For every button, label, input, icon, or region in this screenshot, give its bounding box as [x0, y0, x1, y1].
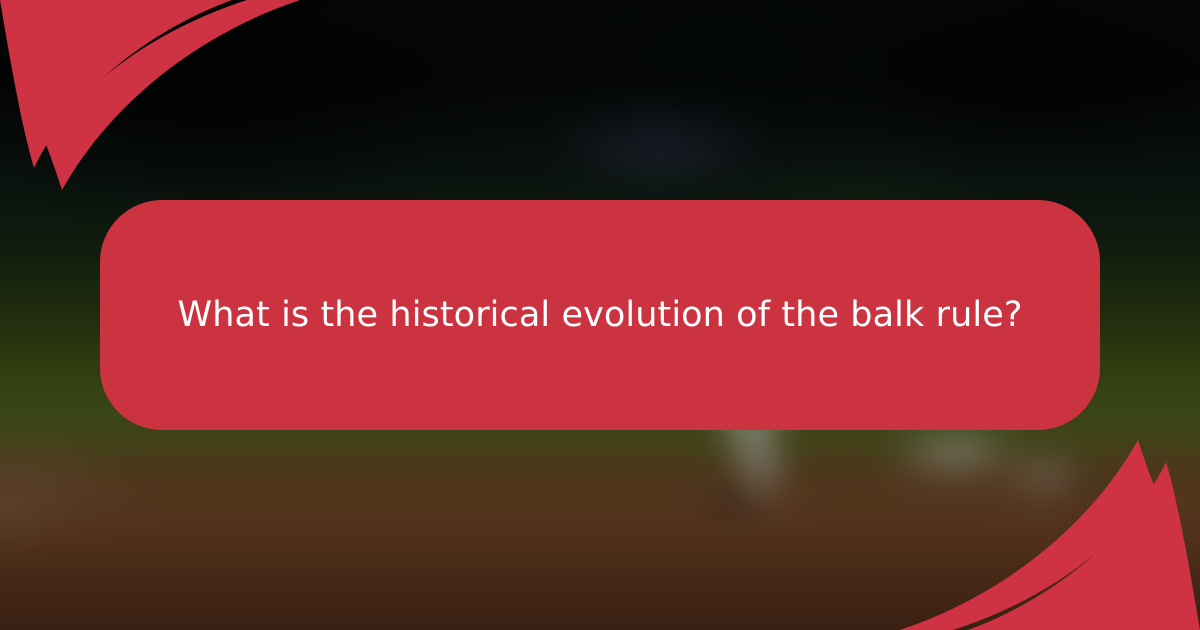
question-card: What is the historical evolution of the … — [100, 200, 1100, 430]
social-card-canvas: What is the historical evolution of the … — [0, 0, 1200, 630]
question-text: What is the historical evolution of the … — [177, 287, 1022, 344]
